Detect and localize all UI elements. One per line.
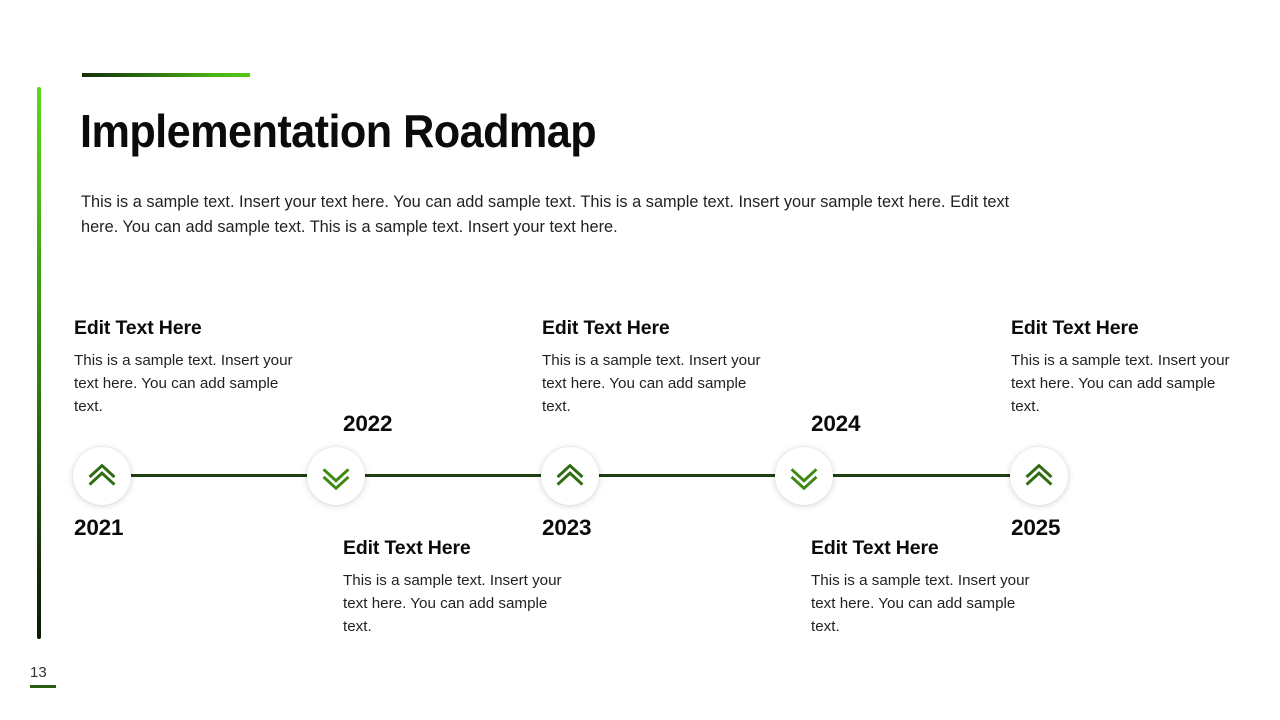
double-chevron-up-icon [1021, 458, 1057, 494]
timeline-year-label-2021: 2021 [74, 515, 123, 541]
double-chevron-up-icon [552, 458, 588, 494]
timeline-track-segment [360, 474, 546, 477]
double-chevron-up-icon [84, 458, 120, 494]
timeline-track-segment [126, 474, 312, 477]
milestone-heading: Edit Text Here [811, 535, 1043, 561]
milestone-body: This is a sample text. Insert your text … [74, 349, 306, 419]
milestone-heading: Edit Text Here [343, 535, 575, 561]
timeline-node-2022[interactable] [307, 447, 365, 505]
timeline-year-label-2024: 2024 [811, 411, 860, 437]
milestone-body: This is a sample text. Insert your text … [1011, 349, 1243, 419]
milestone-heading: Edit Text Here [74, 315, 306, 341]
timeline-text-block-2022: Edit Text HereThis is a sample text. Ins… [343, 535, 575, 639]
timeline-year-label-2023: 2023 [542, 515, 591, 541]
page-number-rule [30, 685, 56, 688]
timeline-text-block-2024: Edit Text HereThis is a sample text. Ins… [811, 535, 1043, 639]
page-number: 13 [30, 663, 56, 683]
page-number-group: 13 [30, 663, 56, 688]
milestone-body: This is a sample text. Insert your text … [343, 569, 575, 639]
timeline-year-label-2025: 2025 [1011, 515, 1060, 541]
slide-canvas: Implementation Roadmap This is a sample … [0, 0, 1280, 720]
timeline-text-block-2023: Edit Text HereThis is a sample text. Ins… [542, 315, 774, 419]
timeline-year-label-2022: 2022 [343, 411, 392, 437]
timeline-text-block-2025: Edit Text HereThis is a sample text. Ins… [1011, 315, 1243, 419]
milestone-heading: Edit Text Here [542, 315, 774, 341]
double-chevron-down-icon [318, 458, 354, 494]
timeline-node-2021[interactable] [73, 447, 131, 505]
timeline-track-segment [828, 474, 1015, 477]
double-chevron-down-icon [786, 458, 822, 494]
timeline-track-segment [594, 474, 780, 477]
timeline-text-block-2021: Edit Text HereThis is a sample text. Ins… [74, 315, 306, 419]
timeline: 2021Edit Text HereThis is a sample text.… [0, 0, 1280, 720]
milestone-heading: Edit Text Here [1011, 315, 1243, 341]
timeline-node-2024[interactable] [775, 447, 833, 505]
milestone-body: This is a sample text. Insert your text … [811, 569, 1043, 639]
timeline-node-2025[interactable] [1010, 447, 1068, 505]
milestone-body: This is a sample text. Insert your text … [542, 349, 774, 419]
timeline-node-2023[interactable] [541, 447, 599, 505]
